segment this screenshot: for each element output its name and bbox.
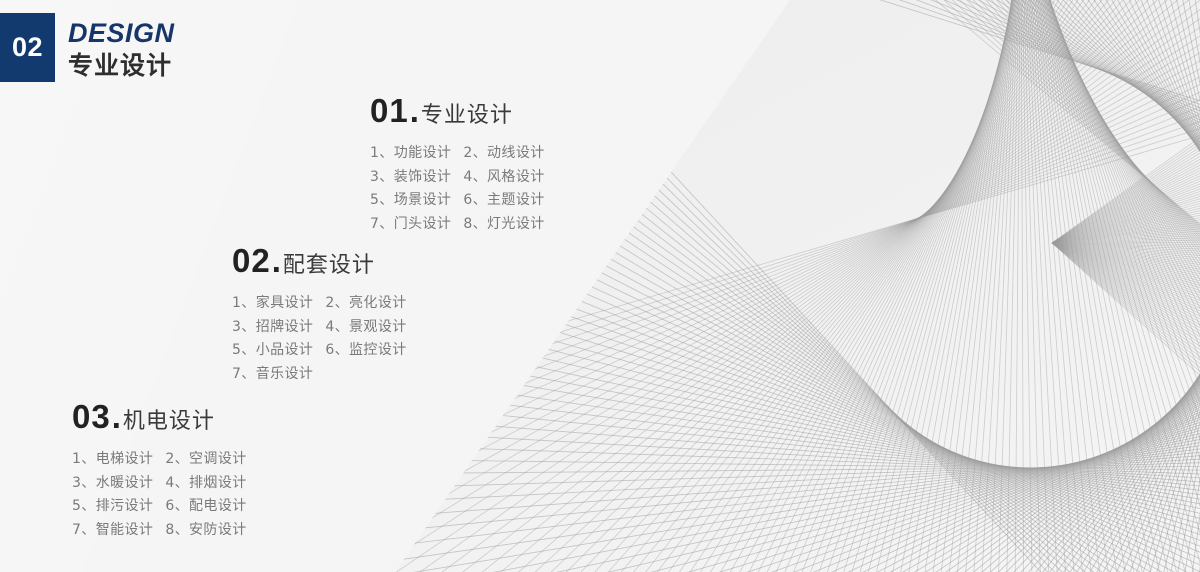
slide-canvas: 02 DESIGN 专业设计 01 . 专业设计 1、功能设计2、动线设计 3、…: [0, 0, 1200, 572]
slide-header: 02 DESIGN 专业设计: [0, 13, 175, 82]
section-01-heading: 01 . 专业设计: [370, 92, 545, 130]
header-title-cn: 专业设计: [68, 53, 175, 78]
list-item: 1、家具设计2、亮化设计: [232, 292, 407, 316]
list-item-right: 4、排烟设计: [165, 472, 246, 496]
list-item-left: 1、功能设计: [370, 142, 451, 166]
section-01-list: 1、功能设计2、动线设计 3、装饰设计4、风格设计 5、场景设计6、主题设计 7…: [370, 142, 545, 236]
section-03-dot: .: [112, 398, 121, 436]
list-item-right: 4、景观设计: [325, 316, 406, 340]
section-03-heading: 03 . 机电设计: [72, 398, 247, 436]
section-03-list: 1、电梯设计2、空调设计 3、水暖设计4、排烟设计 5、排污设计6、配电设计 7…: [72, 448, 247, 542]
section-02-heading: 02 . 配套设计: [232, 242, 407, 280]
section-02-title: 配套设计: [283, 247, 375, 279]
list-item: 5、排污设计6、配电设计: [72, 495, 247, 519]
section-02-number: 02: [232, 242, 271, 280]
list-item: 7、音乐设计: [232, 363, 407, 387]
list-item-left: 3、水暖设计: [72, 472, 153, 496]
section-02-dot: .: [272, 242, 281, 280]
section-02-list: 1、家具设计2、亮化设计 3、招牌设计4、景观设计 5、小品设计6、监控设计 7…: [232, 292, 407, 386]
list-item-left: 7、智能设计: [72, 519, 153, 543]
section-03-title: 机电设计: [123, 403, 215, 435]
section-01-number: 01: [370, 92, 409, 130]
list-item-left: 7、音乐设计: [232, 363, 313, 387]
list-item: 3、装饰设计4、风格设计: [370, 166, 545, 190]
list-item-left: 7、门头设计: [370, 213, 451, 237]
list-item-left: 1、电梯设计: [72, 448, 153, 472]
list-item: 1、功能设计2、动线设计: [370, 142, 545, 166]
list-item-right: 2、亮化设计: [325, 292, 406, 316]
list-item-right: 4、风格设计: [463, 166, 544, 190]
content-section-03: 03 . 机电设计 1、电梯设计2、空调设计 3、水暖设计4、排烟设计 5、排污…: [72, 398, 247, 542]
section-number-badge: 02: [0, 13, 55, 82]
header-text-block: DESIGN 专业设计: [68, 13, 175, 82]
header-title-en: DESIGN: [68, 20, 175, 47]
list-item: 1、电梯设计2、空调设计: [72, 448, 247, 472]
list-item-right: 2、动线设计: [463, 142, 544, 166]
list-item-left: 5、场景设计: [370, 189, 451, 213]
list-item: 3、水暖设计4、排烟设计: [72, 472, 247, 496]
list-item-left: 1、家具设计: [232, 292, 313, 316]
list-item-left: 3、招牌设计: [232, 316, 313, 340]
list-item-left: 3、装饰设计: [370, 166, 451, 190]
content-section-01: 01 . 专业设计 1、功能设计2、动线设计 3、装饰设计4、风格设计 5、场景…: [370, 92, 545, 236]
list-item-right: 2、空调设计: [165, 448, 246, 472]
list-item-left: 5、排污设计: [72, 495, 153, 519]
list-item-right: 8、灯光设计: [463, 213, 544, 237]
list-item-right: 6、监控设计: [325, 339, 406, 363]
section-01-title: 专业设计: [421, 97, 513, 129]
list-item-left: 5、小品设计: [232, 339, 313, 363]
list-item-right: 8、安防设计: [165, 519, 246, 543]
section-01-dot: .: [410, 92, 419, 130]
section-03-number: 03: [72, 398, 111, 436]
list-item: 7、门头设计8、灯光设计: [370, 213, 545, 237]
list-item-right: 6、配电设计: [165, 495, 246, 519]
list-item-right: 6、主题设计: [463, 189, 544, 213]
content-section-02: 02 . 配套设计 1、家具设计2、亮化设计 3、招牌设计4、景观设计 5、小品…: [232, 242, 407, 386]
list-item: 5、小品设计6、监控设计: [232, 339, 407, 363]
list-item: 3、招牌设计4、景观设计: [232, 316, 407, 340]
list-item: 5、场景设计6、主题设计: [370, 189, 545, 213]
list-item: 7、智能设计8、安防设计: [72, 519, 247, 543]
